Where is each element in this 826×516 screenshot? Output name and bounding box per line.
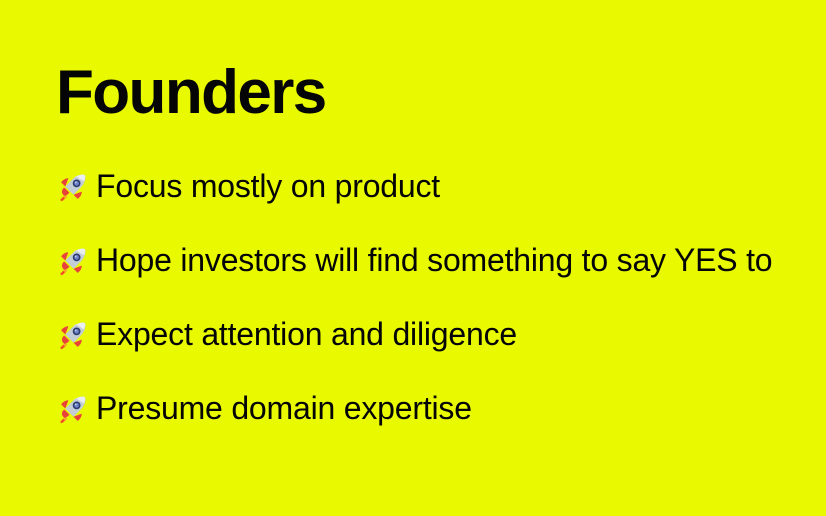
- rocket-icon: [56, 387, 96, 420]
- list-item: Presume domain expertise: [56, 386, 816, 460]
- list-item-label: Focus mostly on product: [96, 169, 440, 204]
- list-item-label: Expect attention and diligence: [96, 317, 517, 352]
- list-item-label: Hope investors will find something to sa…: [96, 243, 772, 278]
- slide-canvas: Founders Focus mostly on product: [0, 0, 826, 516]
- page-title: Founders: [56, 62, 326, 124]
- rocket-icon: [56, 313, 96, 346]
- list-item-label: Presume domain expertise: [96, 391, 472, 426]
- rocket-icon: [56, 239, 96, 272]
- list-item: Expect attention and diligence: [56, 312, 816, 386]
- list-item: Focus mostly on product: [56, 164, 816, 238]
- list-item: Hope investors will find something to sa…: [56, 238, 816, 312]
- bullet-list: Focus mostly on product Hope investors w…: [56, 164, 816, 460]
- rocket-icon: [56, 165, 96, 198]
